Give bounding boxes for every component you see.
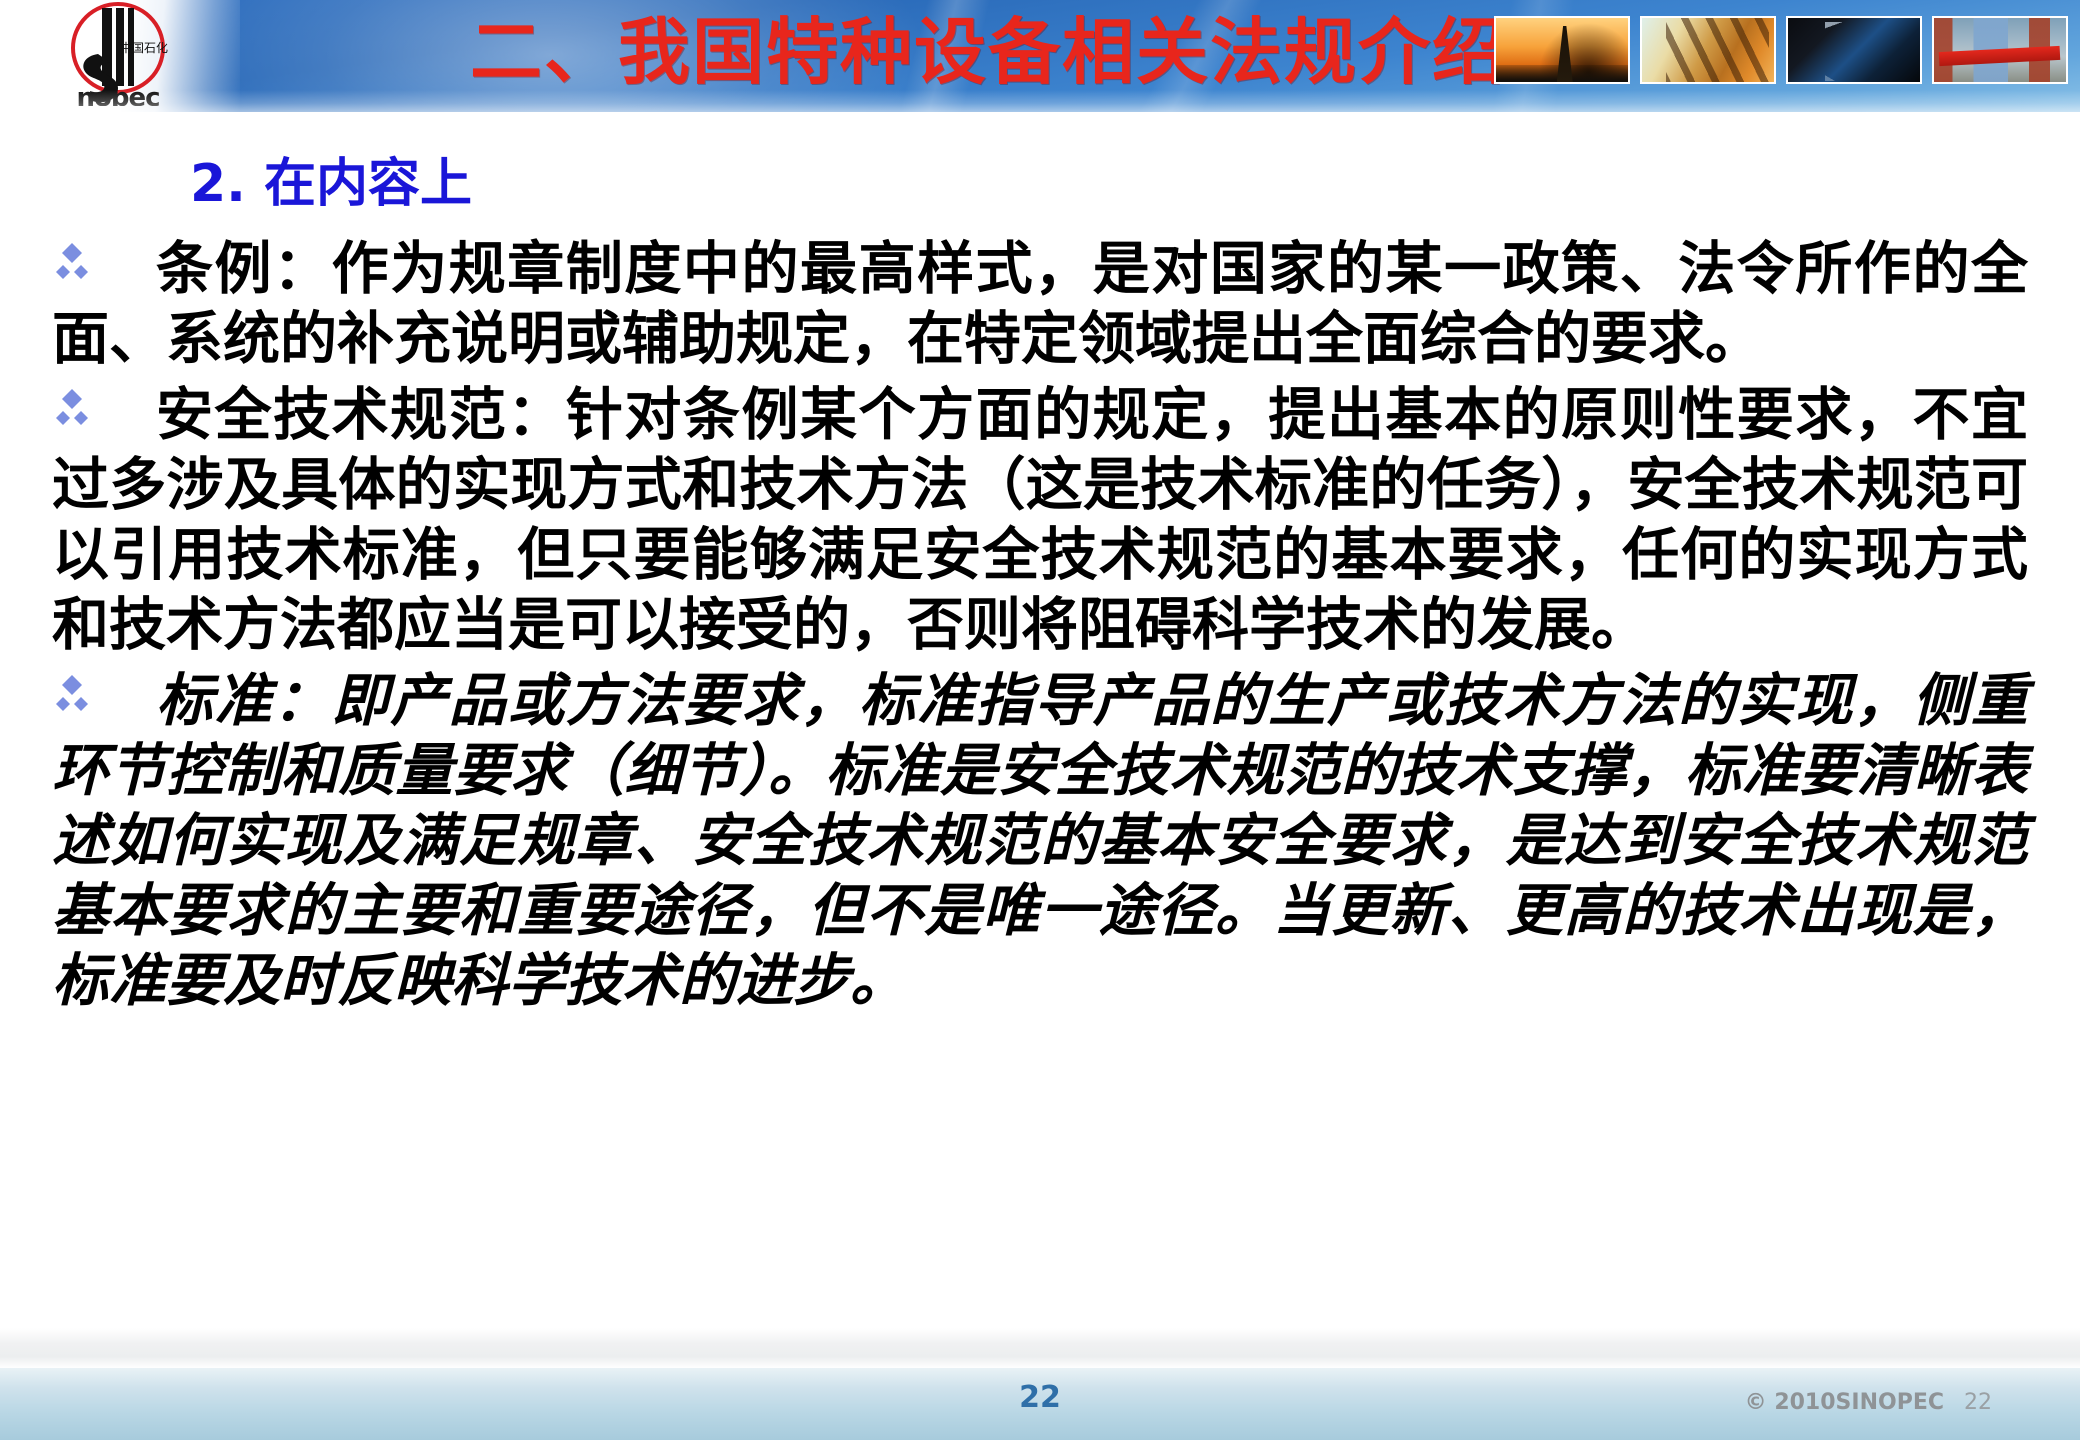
header-bottom-fade [0, 90, 2080, 112]
gas-station-thumbnail [1932, 16, 2068, 84]
bullet-item-anquan-jishu-guifan: 安全技术规范：针对条例某个方面的规定，提出基本的原则性要求，不宜过多涉及具体的实… [0, 380, 2080, 660]
bullet-item-tiaoli: 条例：作为规章制度中的最高样式，是对国家的某一政策、法令所作的全面、系统的补充说… [0, 234, 2080, 374]
footer-page-number-right: 22 [1964, 1390, 1992, 1415]
bullet-list: 条例：作为规章制度中的最高样式，是对国家的某一政策、法令所作的全面、系统的补充说… [0, 234, 2080, 1022]
footer-copyright: © 2010SINOPEC [1745, 1390, 1944, 1415]
bullet-text-anquan-jishu-guifan: 安全技术规范：针对条例某个方面的规定，提出基本的原则性要求，不宜过多涉及具体的实… [0, 380, 2080, 660]
oil-derrick-sunset-thumbnail [1494, 16, 1630, 84]
slide-header: nopec 中国石化 二、我国特种设备相关法规介绍 [0, 0, 2080, 112]
bullet-item-biaozhun: 标准：即产品或方法要求，标准指导产品的生产或技术方法的实现，侧重环节控制和质量要… [0, 666, 2080, 1016]
section-subtitle: 2. 在内容上 [190, 154, 472, 214]
slide-footer: 22 © 2010SINOPEC 22 [0, 1328, 2080, 1440]
bullet-text-tiaoli: 条例：作为规章制度中的最高样式，是对国家的某一政策、法令所作的全面、系统的补充说… [0, 234, 2080, 374]
diamond-bullet-icon [52, 388, 96, 434]
slide-body: 2. 在内容上 条例：作为规章制度中的最高样式，是对国家的某一政策、法令所作的全… [0, 112, 2080, 1328]
header-thumbnail-strip [1494, 16, 2068, 84]
diamond-bullet-icon [52, 674, 96, 720]
machinery-dark-thumbnail [1786, 16, 1922, 84]
footer-top-band [0, 1328, 2080, 1368]
bullet-text-biaozhun: 标准：即产品或方法要求，标准指导产品的生产或技术方法的实现，侧重环节控制和质量要… [0, 666, 2080, 1016]
refinery-pipes-thumbnail [1640, 16, 1776, 84]
svg-text:中国石化: 中国石化 [120, 40, 168, 55]
diamond-bullet-icon [52, 242, 96, 288]
slide-title: 二、我国特种设备相关法规介绍 [470, 6, 1630, 98]
